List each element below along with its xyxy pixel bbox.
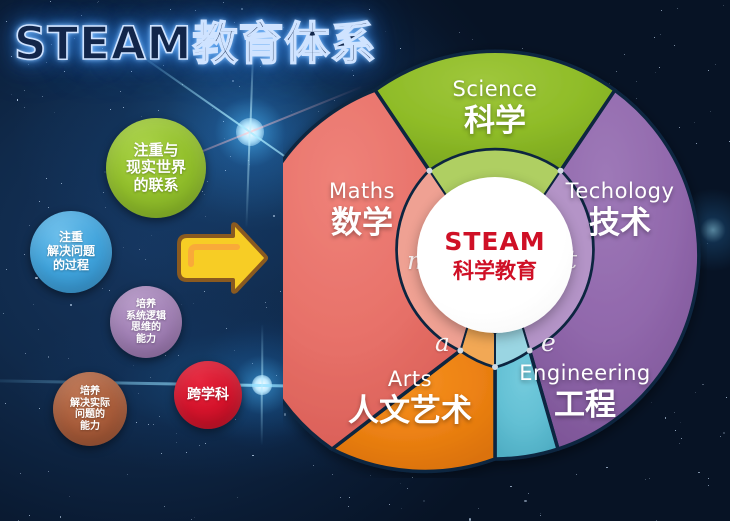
bubble-process[interactable]: 注重解决问题的过程	[30, 211, 112, 293]
bubble-process-text: 注重解决问题的过程	[43, 231, 99, 272]
bubble-logic-text: 培养系统逻辑思维的能力	[122, 299, 170, 345]
bubble-cross-subject[interactable]: 跨学科	[174, 361, 242, 429]
poster-canvas: STEAM教育体系 注重与现实世界的联系 注重解决问题的过程 培养系统逻辑思维的…	[0, 0, 730, 521]
flow-arrow-icon	[175, 222, 269, 300]
hub-subtitle: 科学教育	[453, 258, 537, 284]
wheel-hub[interactable]: STEAM 科学教育	[417, 177, 573, 333]
bubble-real-world[interactable]: 注重与现实世界的联系	[106, 118, 206, 218]
bubble-cross-subject-text: 跨学科	[183, 387, 233, 403]
bubble-practical-text: 培养解决实际问题的能力	[66, 386, 114, 432]
hub-title: STEAM	[444, 227, 545, 257]
bubble-real-world-text: 注重与现实世界的联系	[122, 142, 190, 194]
bubble-logic[interactable]: 培养系统逻辑思维的能力	[110, 286, 182, 358]
steam-wheel: s t e a m Science 科学 Techology 技术 Engine…	[283, 38, 707, 482]
bubble-practical[interactable]: 培养解决实际问题的能力	[53, 372, 127, 446]
